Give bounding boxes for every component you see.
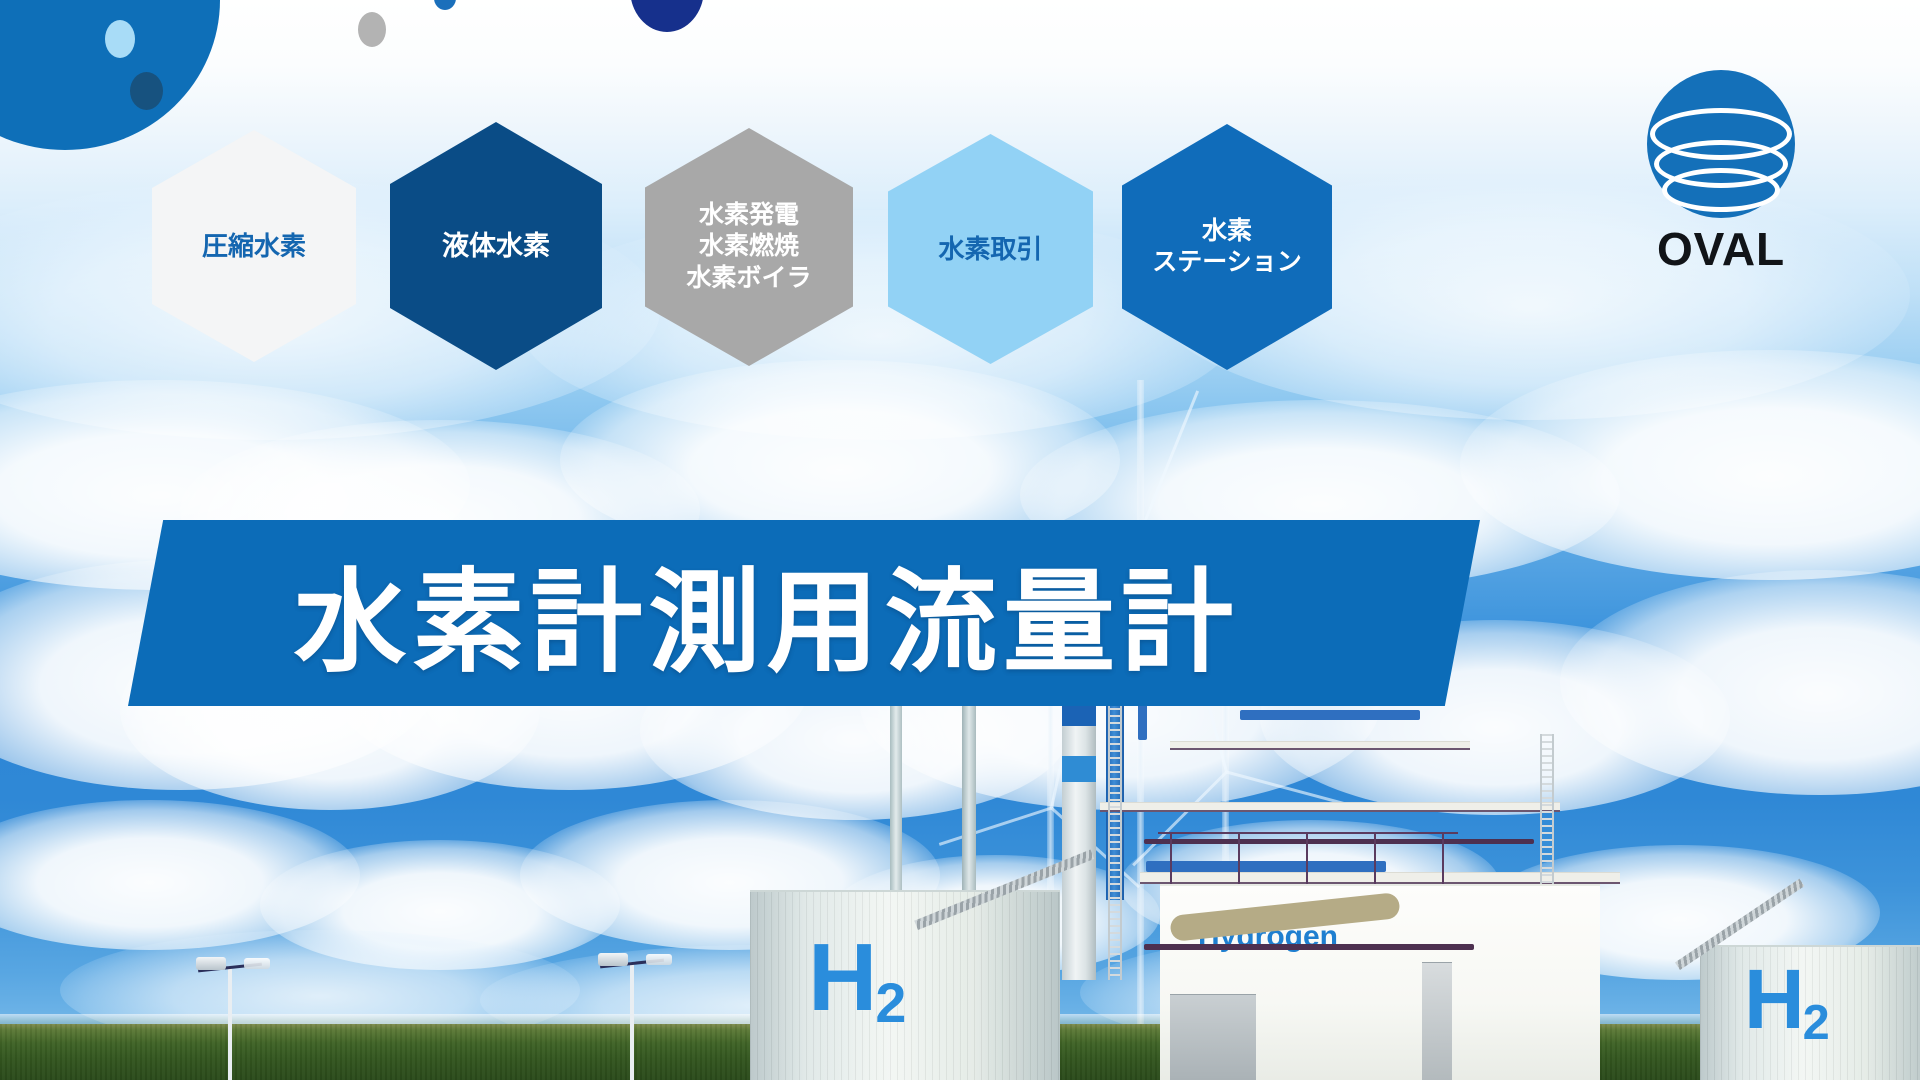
h2-label-right: H2 [1744,961,1828,1038]
handrail [1238,832,1240,884]
handrail [1306,832,1308,884]
page-title: 水素計測用流量計 [294,532,1239,694]
plant-deck [1170,741,1470,750]
street-lamp [630,962,634,1080]
oval-wordmark: OVAL [1657,226,1785,272]
hexagon-liquid-hydrogen[interactable]: 液体水素 [390,122,602,370]
hexagon-compressed-hydrogen[interactable]: 圧縮水素 [152,130,356,362]
oval-sphere-rings-logo [1647,70,1795,218]
hexagon-hydrogen-station[interactable]: 水素 ステーション [1122,124,1332,370]
process-pipe [1240,710,1420,720]
hydrogen-storage-tank-left: H2 [750,890,1060,1080]
plant-deck [1100,802,1560,812]
hero-banner-stage: H2 Hydrogen H2 [0,0,1920,1080]
oval-logo[interactable]: OVAL [1647,70,1795,272]
hexagon-label: 液体水素 [436,229,556,263]
access-ladder [1540,734,1554,884]
hexagon-category-row: 圧縮水素 液体水素 水素発電 水素燃焼 水素ボイラ 水素取引 水素 ステーション [0,0,1920,400]
process-pipe [1144,839,1534,844]
process-pipe [1144,944,1474,950]
process-pipe [1146,861,1386,872]
hexagon-label: 水素取引 [932,233,1048,266]
handrail [1374,832,1376,884]
handrail [1158,832,1458,834]
hexagon-label: 水素発電 水素燃焼 水素ボイラ [680,200,817,295]
hexagon-hydrogen-power-combustion-boiler[interactable]: 水素発電 水素燃焼 水素ボイラ [645,128,853,366]
h2-label-left: H2 [808,934,904,1022]
access-ladder [1108,680,1122,980]
handrail [1170,832,1172,884]
title-banner: 水素計測用流量計 [128,520,1480,706]
hexagon-hydrogen-trading[interactable]: 水素取引 [888,134,1093,364]
hexagon-label: 圧縮水素 [196,230,312,263]
hydrogen-storage-tank-right: H2 [1700,945,1920,1080]
handrail [1442,832,1444,884]
street-lamp [228,966,232,1080]
hexagon-label: 水素 ステーション [1146,216,1308,279]
exhaust-stack [890,680,902,890]
